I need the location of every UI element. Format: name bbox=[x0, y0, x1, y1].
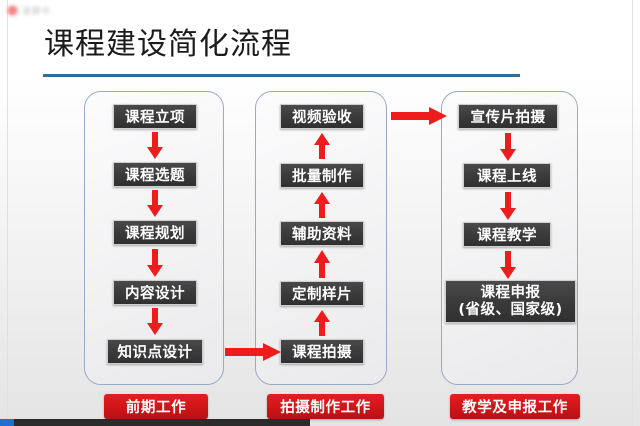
stage-caption-2: 拍摄制作工作 bbox=[267, 394, 384, 419]
connector-stage1-to-stage2 bbox=[225, 343, 281, 361]
node-stage3-3[interactable]: 课程教学 bbox=[463, 222, 551, 247]
arrow-up-s2-2 bbox=[312, 192, 332, 218]
node-stage1-3[interactable]: 课程规划 bbox=[113, 220, 197, 245]
arrow-down-s1-3 bbox=[145, 249, 165, 277]
node-stage3-4-line1: 课程申报 bbox=[481, 285, 541, 302]
stage-caption-3: 教学及申报工作 bbox=[450, 394, 580, 419]
recording-label: 录屏中 bbox=[22, 4, 51, 17]
node-stage3-2[interactable]: 课程上线 bbox=[463, 163, 551, 188]
connector-stage2-to-stage3 bbox=[391, 107, 447, 125]
stage-caption-1: 前期工作 bbox=[104, 394, 208, 419]
node-stage1-2[interactable]: 课程选题 bbox=[113, 162, 197, 187]
arrow-down-s3-1 bbox=[498, 133, 518, 161]
arrow-down-s1-1 bbox=[145, 132, 165, 159]
node-stage3-4-line2: (省级、国家级) bbox=[458, 302, 562, 319]
node-stage2-3[interactable]: 辅助资料 bbox=[280, 221, 364, 246]
node-stage1-4[interactable]: 内容设计 bbox=[113, 280, 197, 305]
node-stage3-1[interactable]: 宣传片拍摄 bbox=[458, 104, 558, 129]
node-stage2-2[interactable]: 批量制作 bbox=[280, 163, 364, 188]
node-stage3-4[interactable]: 课程申报 (省级、国家级) bbox=[445, 280, 576, 323]
arrow-up-s2-3 bbox=[312, 250, 332, 278]
node-stage2-5[interactable]: 课程拍摄 bbox=[280, 339, 364, 364]
node-stage2-1[interactable]: 视频验收 bbox=[280, 104, 364, 129]
record-dot-icon bbox=[8, 6, 17, 15]
node-stage1-5[interactable]: 知识点设计 bbox=[107, 339, 203, 364]
progress-fill bbox=[0, 419, 14, 426]
arrow-down-s1-4 bbox=[145, 308, 165, 335]
node-stage1-1[interactable]: 课程立项 bbox=[113, 104, 197, 129]
flow-diagram: 课程立项 课程选题 课程规划 内容设计 知识点设计 视频验收 批量制作 bbox=[0, 0, 640, 426]
node-stage2-4[interactable]: 定制样片 bbox=[280, 281, 364, 306]
recording-watermark: 录屏中 bbox=[8, 4, 51, 17]
arrow-up-s2-1 bbox=[312, 133, 332, 159]
progress-track[interactable] bbox=[0, 419, 310, 426]
arrow-up-s2-4 bbox=[312, 310, 332, 336]
slide-canvas: 录屏中 课程建设简化流程 课程立项 课程选题 课程规划 内容设计 知识点设计 bbox=[0, 0, 640, 426]
video-progress-bar[interactable] bbox=[0, 419, 640, 426]
arrow-down-s1-2 bbox=[145, 190, 165, 217]
arrow-down-s3-2 bbox=[498, 192, 518, 220]
arrow-down-s3-3 bbox=[498, 251, 518, 279]
